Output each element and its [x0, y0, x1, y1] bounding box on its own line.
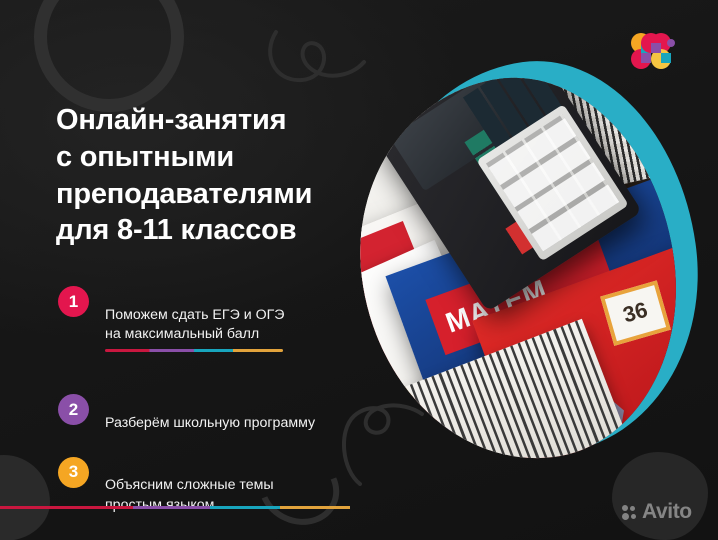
four-dots-icon [622, 505, 637, 520]
page-title: Онлайн-занятия с опытными преподавателям… [56, 102, 366, 249]
benefit-label: Разберём школьную программу [105, 415, 315, 431]
avito-watermark: Avito [622, 500, 692, 524]
benefit-number-badge: 2 [58, 394, 89, 425]
list-item: 2 Разберём школьную программу [58, 393, 378, 433]
decor-ring-icon [34, 0, 184, 112]
brand-logo-icon [629, 31, 675, 73]
benefit-number-badge: 3 [58, 457, 89, 488]
decor-blob-left [0, 455, 50, 540]
avito-wordmark: Avito [642, 500, 692, 524]
benefit-underline-accent [105, 349, 283, 352]
photo-textbooks-calculator: 2023 ФИЗИК МАТЕМ 36 [340, 60, 696, 477]
benefit-label: Поможем сдать ЕГЭ и ОГЭ на максимальный … [105, 307, 285, 343]
benefits-list: 1 Поможем сдать ЕГЭ и ОГЭ на максимальны… [58, 285, 378, 537]
benefit-text: Разберём школьную программу [105, 393, 315, 433]
decor-blob-bottom-right [612, 452, 708, 540]
accent-bar [0, 506, 350, 509]
benefit-text: Поможем сдать ЕГЭ и ОГЭ на максимальный … [105, 285, 285, 371]
benefit-number-badge: 1 [58, 286, 89, 317]
decor-squiggle-top-icon [268, 28, 388, 90]
promo-banner: 2023 ФИЗИК МАТЕМ 36 [0, 0, 718, 540]
photo-book-variants-count: 36 [599, 280, 670, 345]
list-item: 1 Поможем сдать ЕГЭ и ОГЭ на максимальны… [58, 285, 378, 371]
